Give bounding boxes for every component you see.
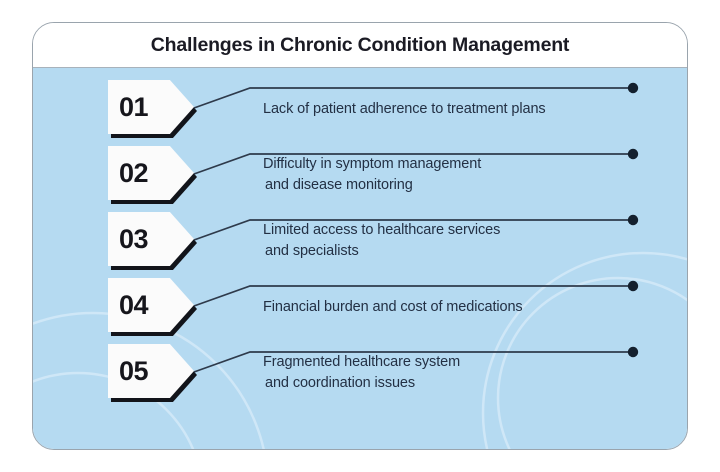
list-item-line-2: and coordination issues (263, 373, 460, 394)
badge-number: 05 (119, 358, 148, 385)
infographic-card: Challenges in Chronic Condition Manageme… (32, 22, 688, 450)
list-item-line-1: Limited access to healthcare services (263, 220, 500, 241)
list-item-text: Difficulty in symptom management and dis… (263, 142, 481, 208)
number-badge: 03 (108, 212, 194, 266)
page-title: Challenges in Chronic Condition Manageme… (151, 34, 569, 57)
list-item[interactable]: 04 Financial burden and cost of medicati… (33, 274, 687, 340)
list-item-line-2: and disease monitoring (263, 175, 481, 196)
infographic-root: Challenges in Chronic Condition Manageme… (0, 0, 720, 472)
badge-number: 01 (119, 94, 148, 121)
number-badge: 01 (108, 80, 194, 134)
number-badge: 02 (108, 146, 194, 200)
list-item-line-1: Difficulty in symptom management (263, 154, 481, 175)
connector-end-dot (628, 83, 638, 93)
badge-number: 03 (119, 226, 148, 253)
list-item-line-1: Lack of patient adherence to treatment p… (263, 99, 546, 120)
connector-end-dot (628, 347, 638, 357)
list-item[interactable]: 01 Lack of patient adherence to treatmen… (33, 76, 687, 142)
connector-end-dot (628, 149, 638, 159)
number-badge: 05 (108, 344, 194, 398)
list-item-line-1: Fragmented healthcare system (263, 352, 460, 373)
number-badge: 04 (108, 278, 194, 332)
card-body: 01 Lack of patient adherence to treatmen… (33, 68, 687, 450)
list-item-text: Financial burden and cost of medications (263, 274, 523, 340)
challenge-list: 01 Lack of patient adherence to treatmen… (33, 68, 687, 450)
badge-number: 02 (119, 160, 148, 187)
badge-number: 04 (119, 292, 148, 319)
list-item-line-1: Financial burden and cost of medications (263, 297, 523, 318)
list-item-text: Lack of patient adherence to treatment p… (263, 76, 546, 142)
list-item-text: Fragmented healthcare system and coordin… (263, 340, 460, 406)
list-item[interactable]: 02 Difficulty in symptom management and … (33, 142, 687, 208)
list-item[interactable]: 05 Fragmented healthcare system and coor… (33, 340, 687, 406)
card-header: Challenges in Chronic Condition Manageme… (33, 23, 687, 68)
connector-end-dot (628, 281, 638, 291)
list-item-text: Limited access to healthcare services an… (263, 208, 500, 274)
list-item-line-2: and specialists (263, 241, 500, 262)
list-item[interactable]: 03 Limited access to healthcare services… (33, 208, 687, 274)
connector-end-dot (628, 215, 638, 225)
